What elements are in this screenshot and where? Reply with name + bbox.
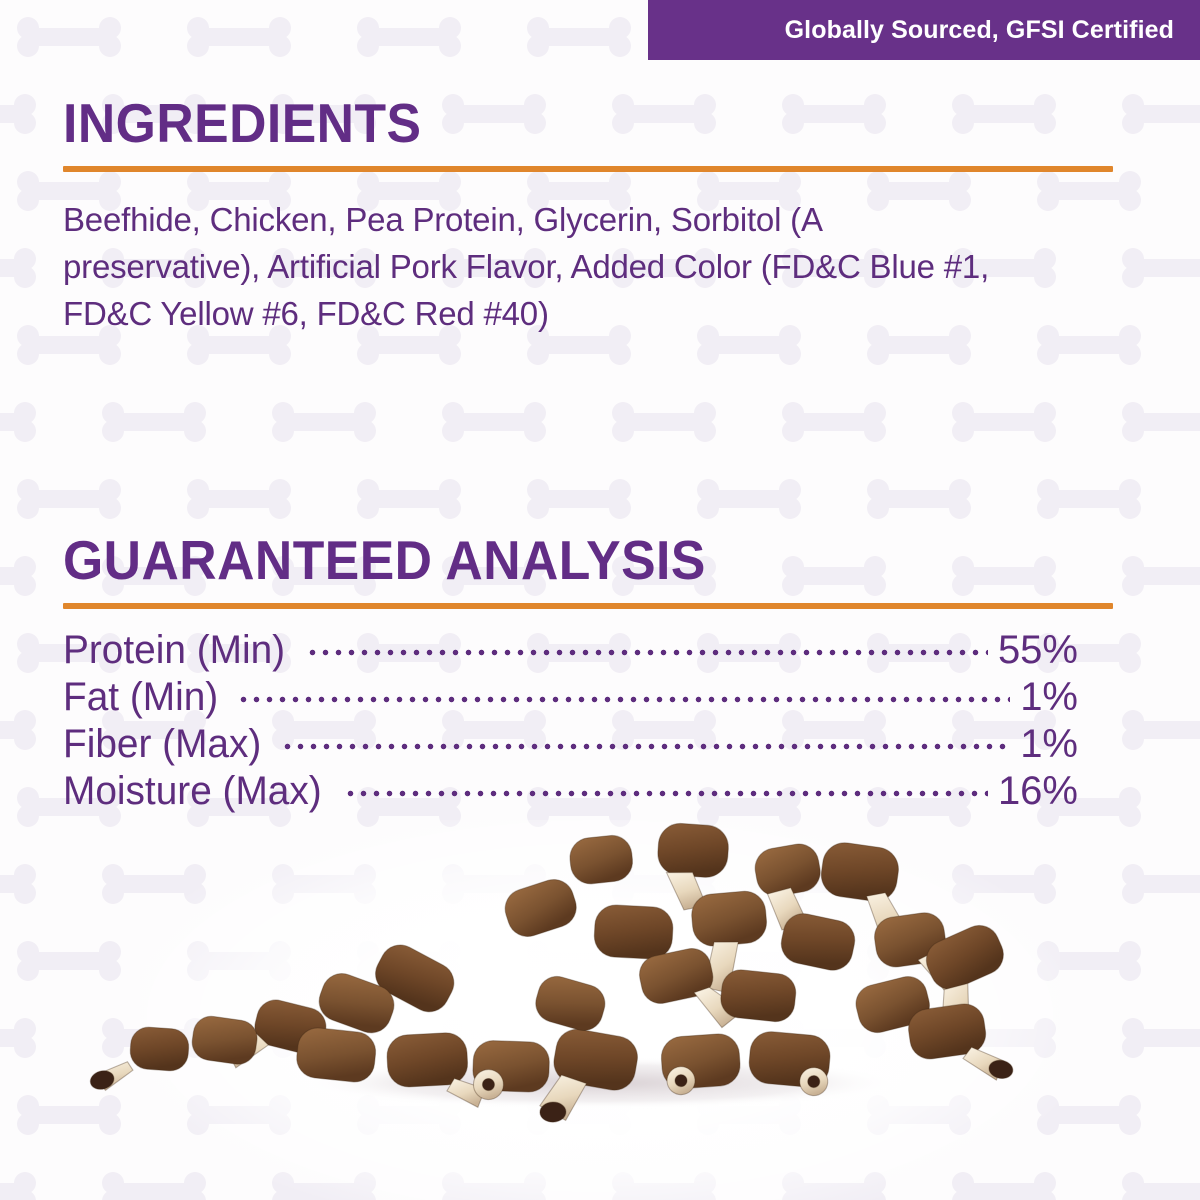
analysis-row: Moisture (Max) 16%	[63, 768, 1078, 815]
guaranteed-analysis-heading: GUARANTEED ANALYSIS	[63, 533, 1050, 588]
ingredients-divider	[63, 166, 1113, 172]
guaranteed-analysis-divider	[63, 603, 1113, 609]
analysis-row-label: Moisture (Max)	[63, 768, 322, 815]
analysis-row: Fiber (Max) 1%	[63, 721, 1078, 768]
analysis-row-label: Fat (Min)	[63, 674, 218, 721]
analysis-row-leader	[237, 695, 1010, 704]
product-photo	[0, 800, 1200, 1200]
analysis-row: Protein (Min) 55%	[63, 627, 1078, 674]
ingredients-heading: INGREDIENTS	[63, 96, 1050, 151]
analysis-row-value: 1%	[1020, 674, 1078, 721]
analysis-row-leader	[344, 789, 988, 798]
ingredients-section: INGREDIENTS Beefhide, Chicken, Pea Prote…	[63, 96, 1113, 370]
product-label-card: Globally Sourced, GFSI Certified INGREDI…	[0, 0, 1200, 1200]
certification-banner-text: Globally Sourced, GFSI Certified	[785, 16, 1174, 45]
analysis-row-leader	[306, 648, 988, 657]
analysis-row-leader	[281, 742, 1010, 751]
guaranteed-analysis-section: GUARANTEED ANALYSIS Protein (Min) 55% Fa…	[63, 533, 1113, 815]
analysis-row-value: 1%	[1020, 721, 1078, 768]
treat-pile-illustration	[0, 800, 1200, 1200]
analysis-row-value: 16%	[998, 768, 1078, 815]
analysis-row: Fat (Min) 1%	[63, 674, 1078, 721]
ingredients-text: Beefhide, Chicken, Pea Protein, Glycerin…	[63, 196, 1023, 337]
analysis-row-value: 55%	[998, 627, 1078, 674]
guaranteed-analysis-rows: Protein (Min) 55% Fat (Min) 1% Fiber (Ma…	[63, 627, 1113, 815]
analysis-row-label: Protein (Min)	[63, 627, 285, 674]
certification-banner: Globally Sourced, GFSI Certified	[648, 0, 1200, 60]
analysis-row-label: Fiber (Max)	[63, 721, 261, 768]
